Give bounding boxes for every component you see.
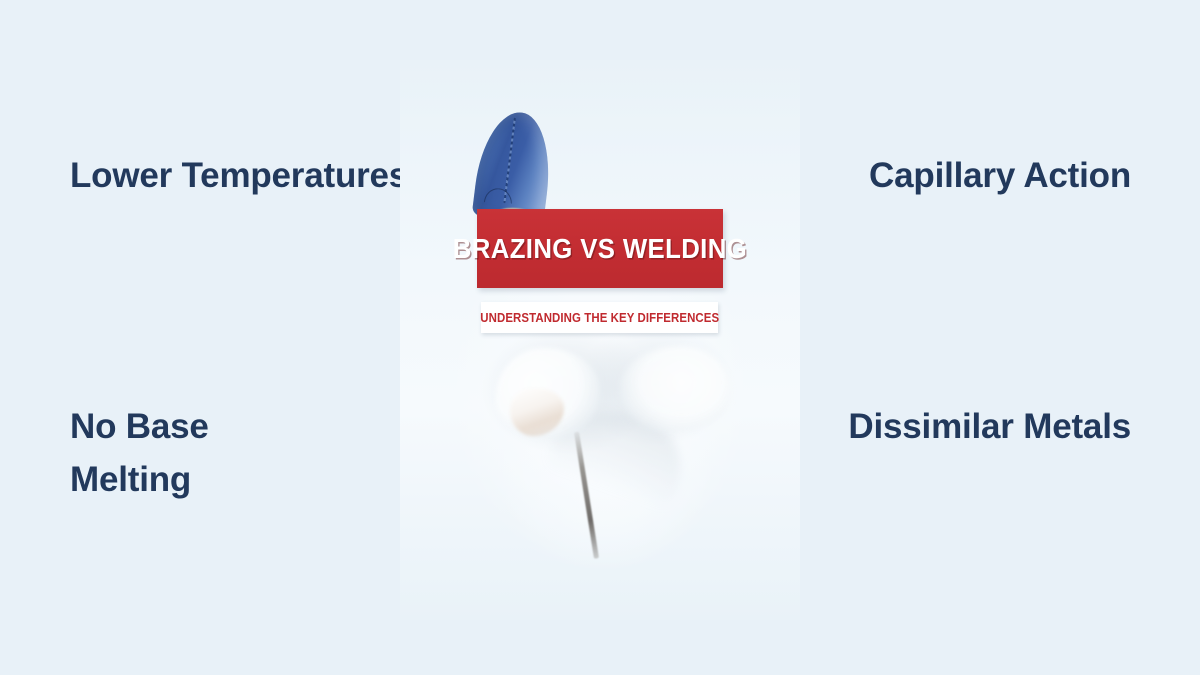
title-banner-text: BRAZING VS WELDING	[453, 233, 747, 265]
glove-right-icon	[620, 346, 732, 432]
feature-label-dissimilar-metals: Dissimilar Metals	[848, 400, 1131, 453]
subtitle-box: UNDERSTANDING THE KEY DIFFERENCES	[481, 302, 718, 333]
title-banner: BRAZING VS WELDING	[477, 209, 723, 288]
photo-background	[400, 60, 800, 620]
feature-label-no-base-melting: No Base Melting	[70, 400, 370, 506]
slide-canvas: Lower Temperatures Capillary Action No B…	[0, 0, 1200, 675]
feature-label-capillary-action: Capillary Action	[869, 149, 1131, 202]
subtitle-text: UNDERSTANDING THE KEY DIFFERENCES	[480, 310, 719, 325]
feature-label-lower-temperatures: Lower Temperatures	[70, 149, 408, 202]
center-photo: BRAZING VS WELDING UNDERSTANDING THE KEY…	[400, 60, 800, 620]
hood-strap	[484, 188, 513, 204]
